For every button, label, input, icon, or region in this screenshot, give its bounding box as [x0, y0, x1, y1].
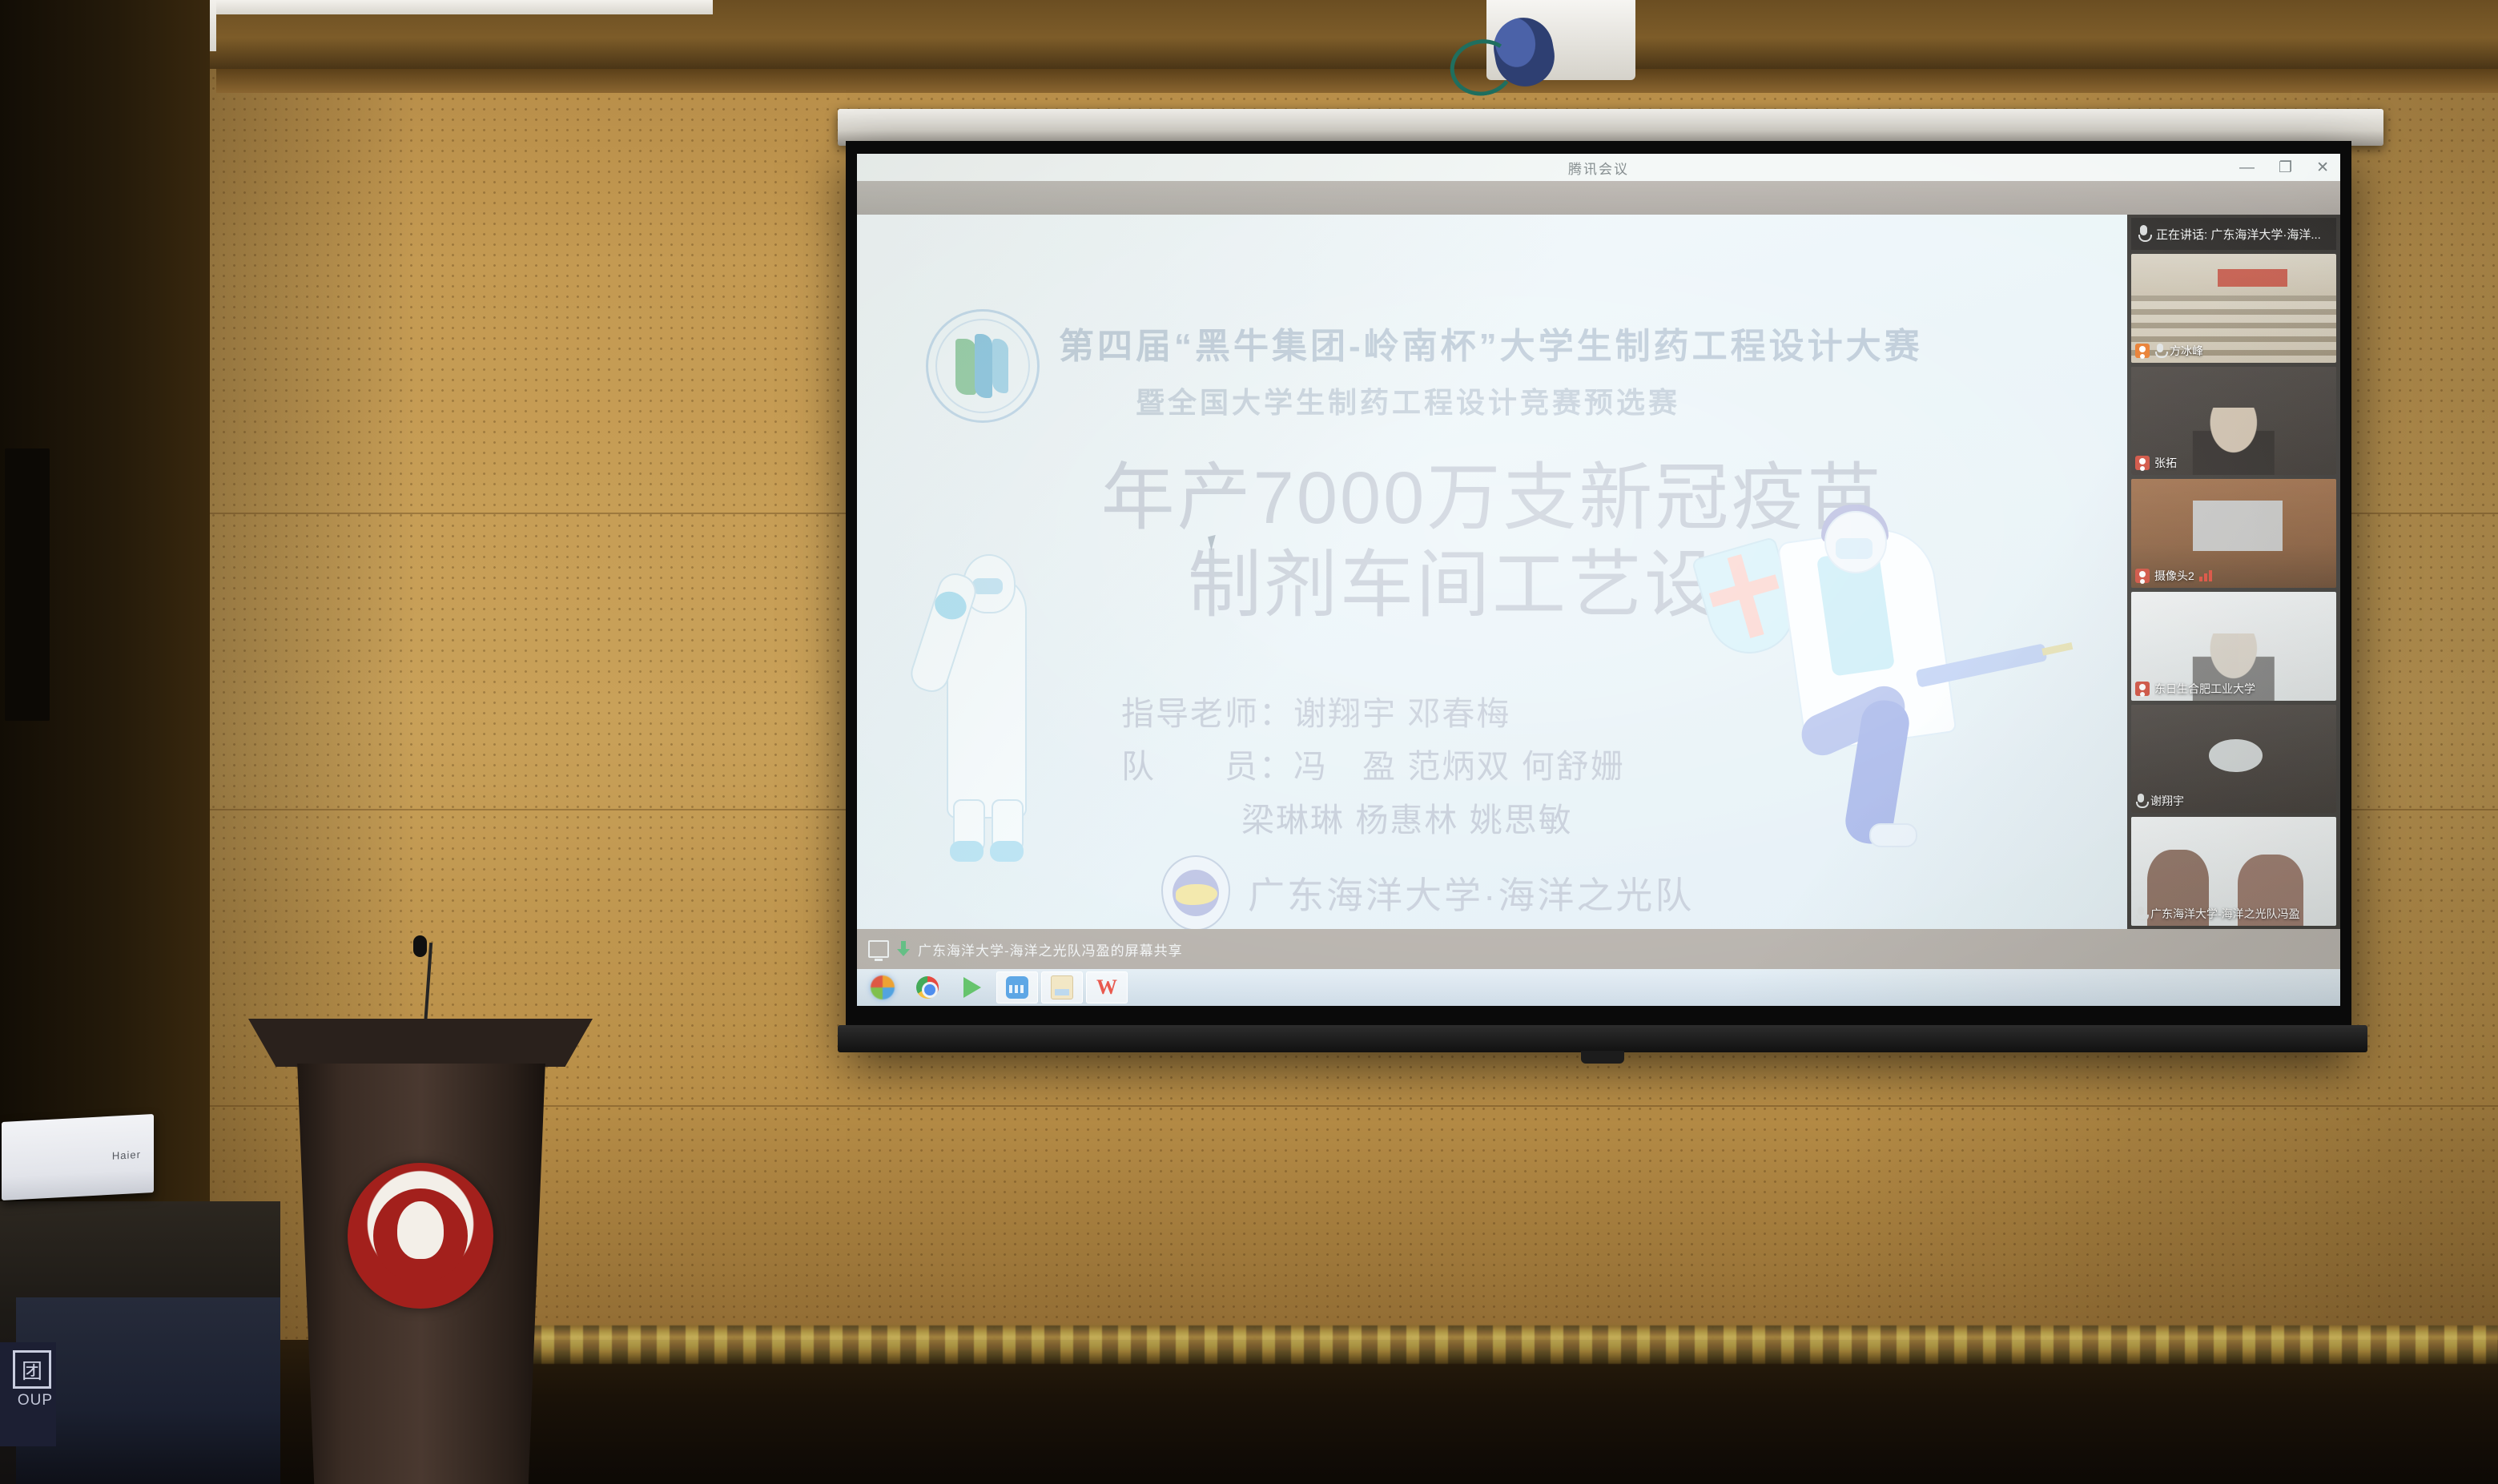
participant-label: 张拓: [2135, 455, 2177, 471]
lecture-hall-scene: 腾讯会议 — ❐ ✕ 第四届“黑牛集团-岭南杯”大学生制药工程: [0, 0, 2498, 1484]
advisor-row: 指导老师：谢翔宇 邓春梅: [1121, 687, 1625, 740]
participant-label: 谢翔宇: [2135, 793, 2184, 809]
laptop-brand: Haier: [112, 1148, 141, 1162]
taskbar-item-chrome[interactable]: [907, 971, 948, 1003]
avatar: [2135, 344, 2150, 358]
participant-name: 东日生合肥工业大学: [2154, 681, 2255, 697]
participant-tile[interactable]: 摄像头2: [2131, 479, 2336, 588]
doctor-illustration: [1704, 500, 2041, 852]
member-row-1: 队 员：冯 盈 范炳双 何舒姗: [1121, 740, 1625, 793]
screen-share-text: 广东海洋大学-海洋之光队冯盈的屏幕共享: [918, 939, 1183, 959]
notes-icon: [1051, 975, 1073, 999]
slide-header-line1: 第四届“黑牛集团-岭南杯”大学生制药工程设计大赛: [1059, 317, 2031, 368]
microphone-icon: [2138, 225, 2150, 243]
audio-level-icon: [2199, 570, 2212, 581]
restore-icon[interactable]: ❐: [2279, 160, 2292, 175]
stage-front-trim: [513, 1325, 2498, 1364]
participant-label: 方冰峰: [2135, 343, 2203, 359]
participant-label: 东日生合肥工业大学: [2135, 681, 2255, 697]
tencent-meeting-icon: [1006, 976, 1028, 999]
competition-logo-icon: [926, 309, 1040, 423]
ceiling-beam: [216, 0, 713, 14]
projector-screen-bottom-bar: [838, 1025, 2367, 1052]
projected-desktop: 腾讯会议 — ❐ ✕ 第四届“黑牛集团-岭南杯”大学生制药工程: [857, 154, 2340, 1006]
participant-name: 广东海洋大学-海洋之光队冯盈: [2150, 906, 2300, 922]
wall-dark-panel: [5, 448, 50, 721]
active-speaker-text: 正在讲话: 广东海洋大学·海洋...: [2156, 226, 2321, 243]
university-logo-icon: [1161, 855, 1230, 929]
participant-label: 摄像头2: [2135, 568, 2212, 584]
team-name: 广东海洋大学·海洋之光队: [1248, 867, 1694, 919]
media-player-icon: [963, 977, 981, 998]
avatar: [2135, 569, 2150, 583]
mic-icon: [2135, 907, 2146, 921]
taskbar-item-notes[interactable]: [1041, 971, 1083, 1003]
slide-header-line2: 暨全国大学生制药工程设计竞赛预选赛: [1136, 380, 2031, 421]
floor-banner: 团 OUP: [0, 1342, 56, 1446]
participant-gallery[interactable]: 正在讲话: 广东海洋大学·海洋... 方冰峰: [2127, 215, 2340, 929]
screen-share-icon: [868, 940, 889, 958]
participant-tile[interactable]: 方冰峰: [2131, 254, 2336, 363]
banner-text: OUP: [18, 1392, 53, 1410]
banner-char: 团: [13, 1350, 51, 1389]
participant-tile-active[interactable]: 广东海洋大学-海洋之光队冯盈: [2131, 817, 2336, 926]
participant-name: 谢翔宇: [2150, 793, 2184, 809]
participant-name: 摄像头2: [2154, 568, 2194, 584]
podium-top: [248, 1019, 593, 1067]
mic-muted-icon: [2154, 344, 2165, 358]
windows-start-orb-icon: [871, 975, 895, 999]
window-title: 腾讯会议: [1568, 158, 1629, 178]
window-controls: — ❐ ✕: [2239, 154, 2329, 181]
taskbar-item-player[interactable]: [951, 971, 993, 1003]
screen-share-bar: 广东海洋大学-海洋之光队冯盈的屏幕共享: [857, 929, 2340, 969]
chrome-icon: [916, 976, 939, 999]
slide-header: 第四届“黑牛集团-岭南杯”大学生制药工程设计大赛 暨全国大学生制药工程设计竞赛预…: [1059, 317, 2031, 421]
participant-tile[interactable]: 谢翔宇: [2131, 705, 2336, 814]
participant-name: 张拓: [2154, 455, 2177, 471]
download-arrow-icon: [897, 941, 910, 957]
podium-emblem: [348, 1163, 493, 1309]
podium: [248, 1019, 593, 1484]
participant-tile[interactable]: 张拓: [2131, 367, 2336, 476]
avatar: [2135, 682, 2150, 696]
taskbar-item-wps[interactable]: W: [1086, 971, 1128, 1003]
laptop: Haier: [2, 1114, 154, 1200]
start-button[interactable]: [862, 971, 903, 1003]
window-titlebar: 腾讯会议 — ❐ ✕: [857, 154, 2340, 181]
active-speaker-banner: 正在讲话: 广东海洋大学·海洋...: [2131, 218, 2336, 250]
ppe-worker-illustration: [919, 527, 1056, 863]
participant-name: 方冰峰: [2170, 343, 2203, 359]
participant-tile[interactable]: 东日生合肥工业大学: [2131, 592, 2336, 701]
avatar: [2135, 456, 2150, 470]
team-line: 广东海洋大学·海洋之光队: [1161, 855, 1694, 929]
slide-credits: 指导老师：谢翔宇 邓春梅 队 员：冯 盈 范炳双 何舒姗 梁琳琳 杨惠林 姚思敏: [1121, 687, 1625, 847]
minimize-icon[interactable]: —: [2239, 160, 2255, 175]
projector-screen: 腾讯会议 — ❐ ✕ 第四届“黑牛集团-岭南杯”大学生制药工程: [846, 141, 2351, 1046]
windows-taskbar[interactable]: W: [857, 969, 2340, 1006]
window-toolbar-strip: [857, 181, 2340, 215]
shared-slide: 第四届“黑牛集团-岭南杯”大学生制药工程设计大赛 暨全国大学生制药工程设计竞赛预…: [857, 215, 2127, 929]
mic-muted-icon: [2135, 794, 2146, 808]
participant-label: 广东海洋大学-海洋之光队冯盈: [2135, 906, 2300, 922]
taskbar-item-meeting[interactable]: [996, 971, 1038, 1003]
close-icon[interactable]: ✕: [2316, 160, 2329, 175]
wps-icon: W: [1096, 977, 1117, 998]
meeting-body: 第四届“黑牛集团-岭南杯”大学生制药工程设计大赛 暨全国大学生制药工程设计竞赛预…: [857, 215, 2340, 929]
member-row-2: 梁琳琳 杨惠林 姚思敏: [1241, 794, 1625, 847]
ceiling-soffit: [216, 69, 2498, 93]
